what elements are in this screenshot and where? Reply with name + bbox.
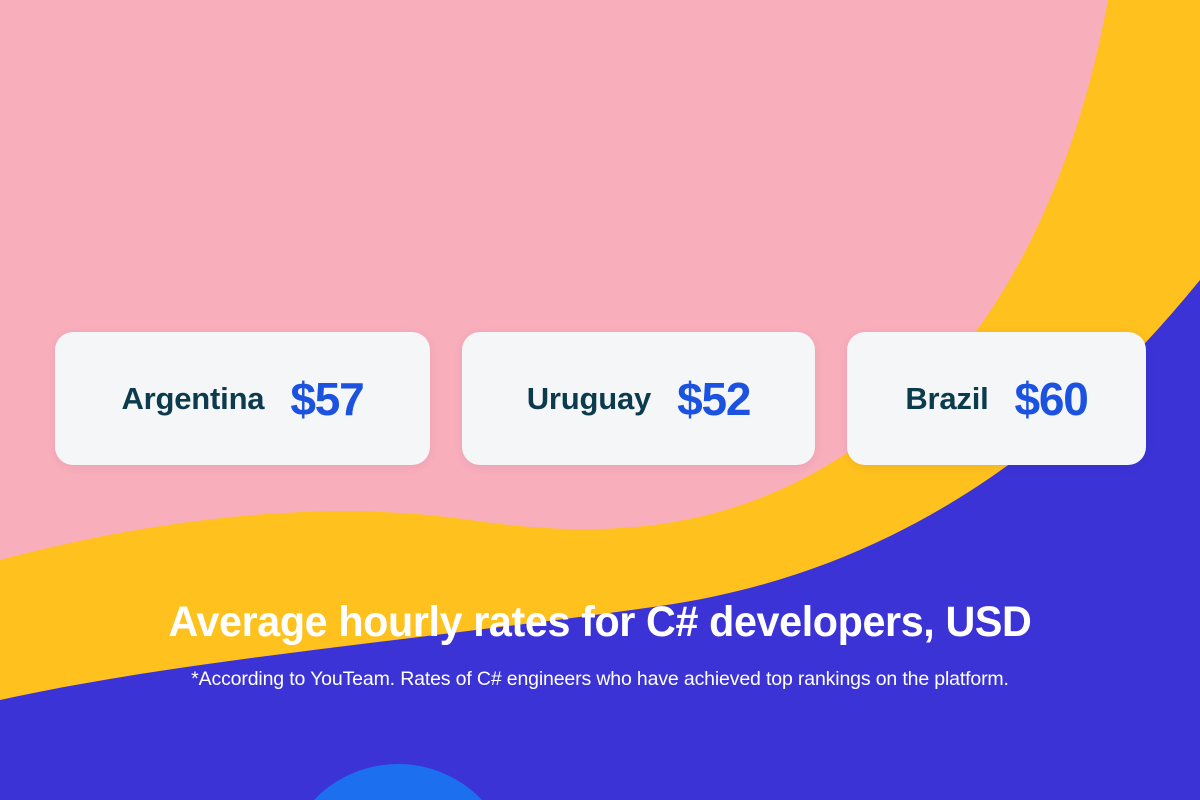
- infographic-canvas: Argentina $57 Uruguay $52 Brazil $60 Ave…: [0, 0, 1200, 800]
- rate-value: $52: [677, 376, 750, 422]
- rate-card-brazil[interactable]: Brazil $60: [847, 332, 1146, 465]
- rate-value: $60: [1015, 376, 1088, 422]
- rate-card-uruguay[interactable]: Uruguay $52: [462, 332, 815, 465]
- country-label: Argentina: [121, 383, 264, 414]
- footnote-text: *According to YouTeam. Rates of C# engin…: [0, 668, 1200, 691]
- rate-value: $57: [290, 376, 363, 422]
- rate-cards-row: Argentina $57 Uruguay $52 Brazil $60: [55, 332, 1146, 465]
- country-label: Brazil: [905, 383, 988, 414]
- country-label: Uruguay: [527, 383, 651, 414]
- caption-block: Average hourly rates for C# developers, …: [0, 598, 1200, 692]
- rate-card-argentina[interactable]: Argentina $57: [55, 332, 430, 465]
- headline-title: Average hourly rates for C# developers, …: [24, 598, 1176, 646]
